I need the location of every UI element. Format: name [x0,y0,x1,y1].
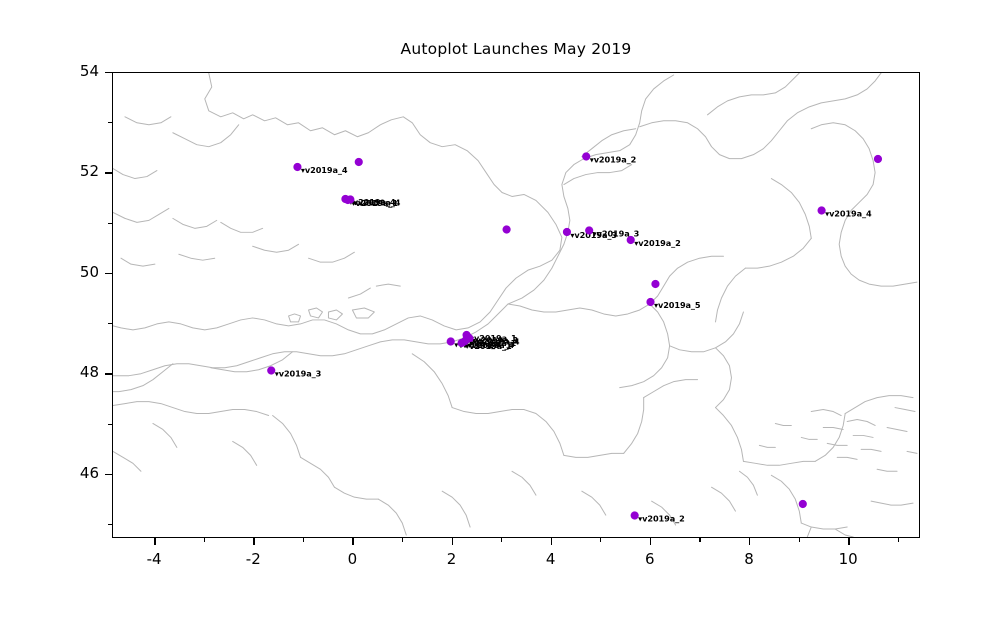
plot-area[interactable]: ▾v2019a_4▾v2019a_4▾v2019a_1▾v2019a_4▾v20… [112,72,920,538]
scatter-point-label: ▾v2019a_4 [825,209,872,219]
tick-mark [204,538,205,542]
x-axis-tick-label: 2 [412,550,492,568]
tick-mark [749,538,750,545]
x-axis-tick-label: 10 [808,550,888,568]
x-axis-tick-label: -4 [114,550,194,568]
tick-mark [105,273,112,274]
y-axis-tick-label: 48 [19,363,99,381]
tick-mark [501,538,502,542]
y-axis-tick-label: 52 [19,162,99,180]
tick-mark [799,538,800,542]
tick-mark [848,538,849,545]
tick-mark [105,72,112,73]
tick-mark [253,538,254,545]
tick-mark [154,538,155,545]
scatter-point[interactable] [503,225,511,233]
tick-mark [898,538,899,542]
scatter-point[interactable] [874,155,882,163]
tick-mark [105,373,112,374]
y-axis-tick-label: 46 [19,464,99,482]
tick-mark [650,538,651,545]
scatter-point-label: ▾v2019a_2 [634,238,681,248]
tick-mark [352,538,353,545]
scatter-point-label: ▾v2019a_2 [638,514,685,524]
scatter-point-label: ▾v2019a_4 [354,198,401,208]
tick-mark [452,538,453,545]
y-axis-tick-label: 54 [19,62,99,80]
tick-mark [105,172,112,173]
figure-canvas: Autoplot Launches May 2019 [0,0,1003,633]
tick-mark [303,538,304,542]
x-axis-tick-label: -2 [213,550,293,568]
x-axis-tick-label: 0 [312,550,392,568]
scatter-point-label: ▾v2019a_2 [590,155,637,165]
scatter-point-label: ▾v2019a_4 [301,165,348,175]
scatter-points-layer[interactable]: ▾v2019a_4▾v2019a_4▾v2019a_1▾v2019a_4▾v20… [113,73,919,537]
x-axis-tick-label: 4 [511,550,591,568]
y-axis-tick-label: 50 [19,263,99,281]
scatter-point-label: ▾v2019a_1 [465,341,512,351]
scatter-point-label: ▾v2019a_3 [275,369,322,379]
tick-mark [551,538,552,545]
scatter-point-label: ▾v2019a_5 [654,300,701,310]
scatter-point[interactable] [355,158,363,166]
tick-mark [699,538,700,542]
scatter-point[interactable] [651,280,659,288]
x-axis-tick-label: 6 [610,550,690,568]
x-axis-tick-label: 8 [709,550,789,568]
scatter-point[interactable] [799,500,807,508]
tick-mark [402,538,403,542]
page-title: Autoplot Launches May 2019 [112,40,920,58]
tick-mark [105,474,112,475]
tick-mark [600,538,601,542]
